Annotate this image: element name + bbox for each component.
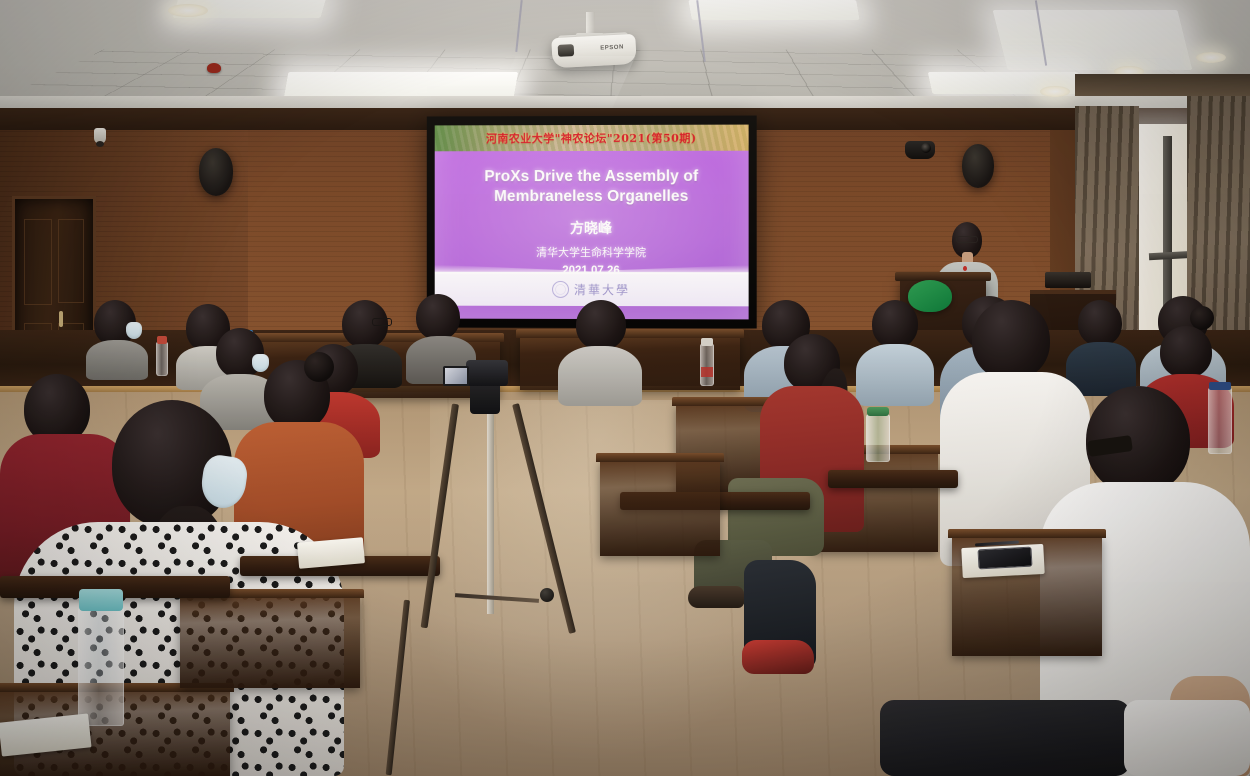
sneaker xyxy=(742,640,814,674)
fire-sprinkler-icon xyxy=(207,63,221,73)
slide-affiliation: 清华大学生命科学学院 xyxy=(435,244,749,260)
water-bottle-red-label xyxy=(700,344,714,386)
audience-person xyxy=(86,300,148,370)
slide-author: 方晓峰 xyxy=(435,218,749,238)
projection-screen: 河南农业大学"神农论坛"2021(第50期) ProXs Drive the A… xyxy=(427,116,757,329)
university-seal-icon xyxy=(552,280,569,297)
bottle-label xyxy=(701,367,713,377)
glasses-icon xyxy=(372,318,392,326)
ceiling-light-panel xyxy=(688,0,860,20)
ceiling-wire xyxy=(515,0,522,52)
slide-banner-text: 河南农业大学"神农论坛"2021(第50期) xyxy=(486,130,697,146)
desk-surface xyxy=(948,529,1106,538)
person-head xyxy=(416,294,460,340)
bottle-cap xyxy=(1209,382,1231,390)
desk-front-left xyxy=(180,596,360,688)
surveillance-camera-icon xyxy=(94,128,106,144)
person-lower-body-shorts xyxy=(880,700,1130,776)
person-head xyxy=(576,300,626,350)
person-head xyxy=(972,300,1050,380)
slide-banner: 河南农业大学"神农论坛"2021(第50期) xyxy=(435,125,749,152)
projector-lens-icon xyxy=(558,44,575,57)
person-torso xyxy=(558,346,642,406)
desk-surface xyxy=(596,453,724,462)
bottle-cap xyxy=(701,338,713,346)
tripod-center-column xyxy=(487,404,494,614)
thermos-lid xyxy=(867,407,889,416)
hair-bun xyxy=(304,352,334,382)
water-bottle-clear xyxy=(1208,388,1232,454)
slide-title-line1: ProXs Drive the Assembly of xyxy=(445,167,739,187)
person-torso xyxy=(856,344,934,406)
tripod-knob[interactable] xyxy=(540,588,554,602)
bottle-cap xyxy=(79,589,123,611)
person-torso-lower xyxy=(1124,700,1250,776)
face-mask xyxy=(126,322,142,339)
wall-speaker-right xyxy=(962,144,994,188)
lectern-top xyxy=(895,272,991,281)
bottle-cap xyxy=(157,336,167,344)
glasses-icon xyxy=(956,236,978,243)
conference-camera-icon xyxy=(905,141,935,159)
shoe xyxy=(688,586,744,608)
water-bottle-clear xyxy=(156,342,168,376)
downlight-icon xyxy=(1196,52,1226,63)
projector-brand-label: EPSON xyxy=(600,44,624,51)
university-wordmark: 清華大學 xyxy=(574,280,630,297)
slide-title: ProXs Drive the Assembly of Membraneless… xyxy=(435,167,749,207)
lecture-hall-photo: EPSON 河南农业大学"神农论坛"2021(第50期) ProXs Drive… xyxy=(0,0,1250,776)
curtain-valance xyxy=(1075,74,1250,96)
door-handle[interactable] xyxy=(59,311,63,327)
presentation-slide: 河南农业大学"神农论坛"2021(第50期) ProXs Drive the A… xyxy=(435,125,749,320)
audience-person xyxy=(558,300,642,404)
bench-back xyxy=(828,470,958,488)
water-bottle-blue-cap xyxy=(78,608,124,726)
wall-speaker-left xyxy=(199,148,233,196)
downlight-icon xyxy=(1040,86,1070,97)
audience-person xyxy=(856,300,934,404)
person-head xyxy=(872,300,918,348)
lapel-mic-icon xyxy=(963,266,967,271)
ceiling-light-panel xyxy=(993,10,1193,70)
camcorder-lcd-screen xyxy=(443,366,469,386)
av-equipment xyxy=(1045,272,1091,288)
smartphone[interactable] xyxy=(978,547,1033,570)
desk-row-mid xyxy=(600,460,720,556)
slide-title-line2: Membraneless Organelles xyxy=(445,187,739,207)
person-head xyxy=(1160,326,1212,378)
ceiling-light-panel xyxy=(284,72,519,98)
thermos-green xyxy=(866,414,890,462)
video-camcorder[interactable] xyxy=(466,360,508,386)
downlight-icon xyxy=(168,4,208,17)
ceiling-projector: EPSON xyxy=(551,34,636,68)
door-panel xyxy=(58,219,84,303)
